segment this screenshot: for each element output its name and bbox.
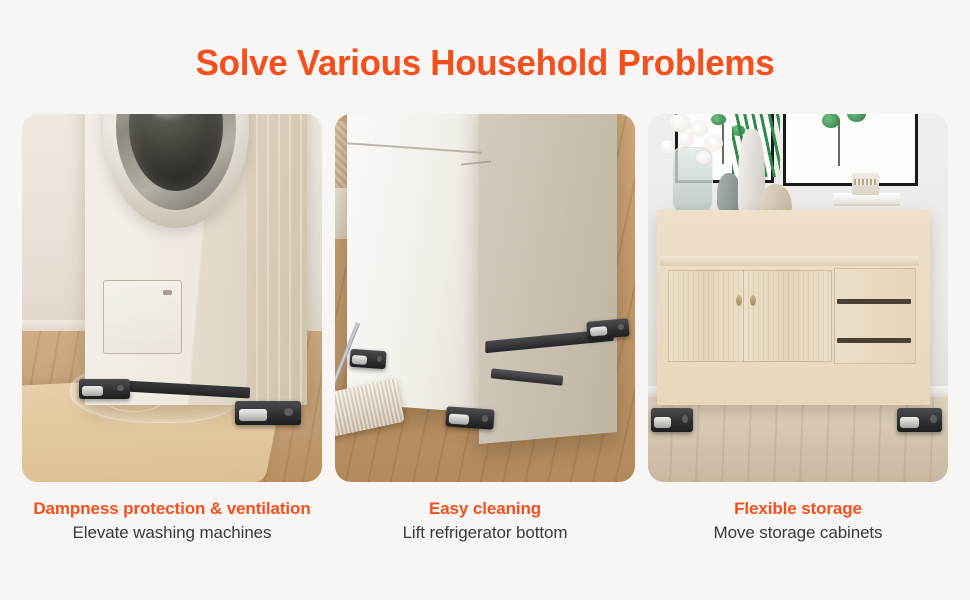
roller-knob [481, 415, 488, 422]
filter-hatch [103, 280, 183, 354]
roller-wheel [900, 417, 919, 428]
roller-stand-right [897, 408, 942, 432]
leaf-icon [711, 114, 726, 125]
page-title: Solve Various Household Problems [15, 41, 956, 85]
roller-stand-left [349, 348, 386, 369]
feature-card-flexible-storage[interactable] [648, 114, 948, 482]
door-ring [116, 114, 236, 210]
caption-heading: Easy cleaning [335, 498, 635, 520]
blossom [690, 121, 708, 136]
roller-knob [376, 355, 381, 362]
roller-stand-front [445, 407, 494, 431]
caption-subtext: Elevate washing machines [22, 521, 322, 545]
roller-wheel [448, 414, 469, 425]
blossom [705, 136, 723, 151]
roller-wheel [82, 386, 103, 396]
drawer-handle-upper [837, 299, 911, 303]
blossom [678, 132, 693, 147]
roller-knob [682, 415, 688, 423]
roller-stand-right [235, 401, 301, 425]
feature-card-dampness-protection[interactable] [22, 114, 322, 482]
roller-wheel [352, 355, 368, 365]
caption-heading: Flexible storage [648, 498, 948, 520]
leaf-icon [847, 114, 866, 122]
caption-row: Dampness protection & ventilation Elevat… [22, 498, 948, 588]
drawer-handle-lower [837, 338, 911, 342]
washing-machine-side-panel [247, 114, 307, 405]
roller-knob [117, 385, 124, 392]
caption-heading: Dampness protection & ventilation [22, 498, 322, 520]
roller-wheel [239, 409, 267, 420]
caption-flexible-storage: Flexible storage Move storage cabinets [648, 498, 948, 588]
blossom [696, 151, 711, 164]
caption-easy-cleaning: Easy cleaning Lift refrigerator bottom [335, 498, 635, 588]
roller-stand-left [651, 408, 693, 432]
refrigerator-side-panel [479, 114, 617, 444]
roller-knob [930, 415, 936, 423]
cabinet-door-right [743, 270, 832, 362]
stem [838, 120, 840, 166]
refrigerator-photo [335, 114, 635, 482]
washing-machine-photo [22, 114, 322, 482]
washing-machine-door [103, 114, 250, 228]
storage-cabinet-photo [648, 114, 948, 482]
caption-subtext: Move storage cabinets [648, 521, 948, 545]
wall-art-frame-right [783, 114, 918, 186]
cabinet-top [660, 256, 919, 266]
promo-banner: Solve Various Household Problems [0, 0, 970, 600]
roller-knob [618, 324, 624, 331]
roller-wheel [654, 417, 672, 428]
feature-card-easy-cleaning[interactable] [335, 114, 635, 482]
decor-box [852, 173, 879, 195]
caption-dampness-protection: Dampness protection & ventilation Elevat… [22, 498, 322, 588]
storage-cabinet [657, 210, 930, 405]
refrigerator-front-panel [347, 114, 482, 413]
cabinet-drawer-column [834, 268, 915, 364]
cabinet-door-left [668, 270, 744, 362]
roller-knob [284, 408, 293, 416]
door-glass [129, 114, 223, 191]
roller-wheel [589, 326, 607, 336]
roller-stand-left [79, 379, 130, 399]
washing-machine [85, 114, 307, 405]
feature-card-row [22, 114, 948, 482]
caption-subtext: Lift refrigerator bottom [335, 521, 635, 545]
